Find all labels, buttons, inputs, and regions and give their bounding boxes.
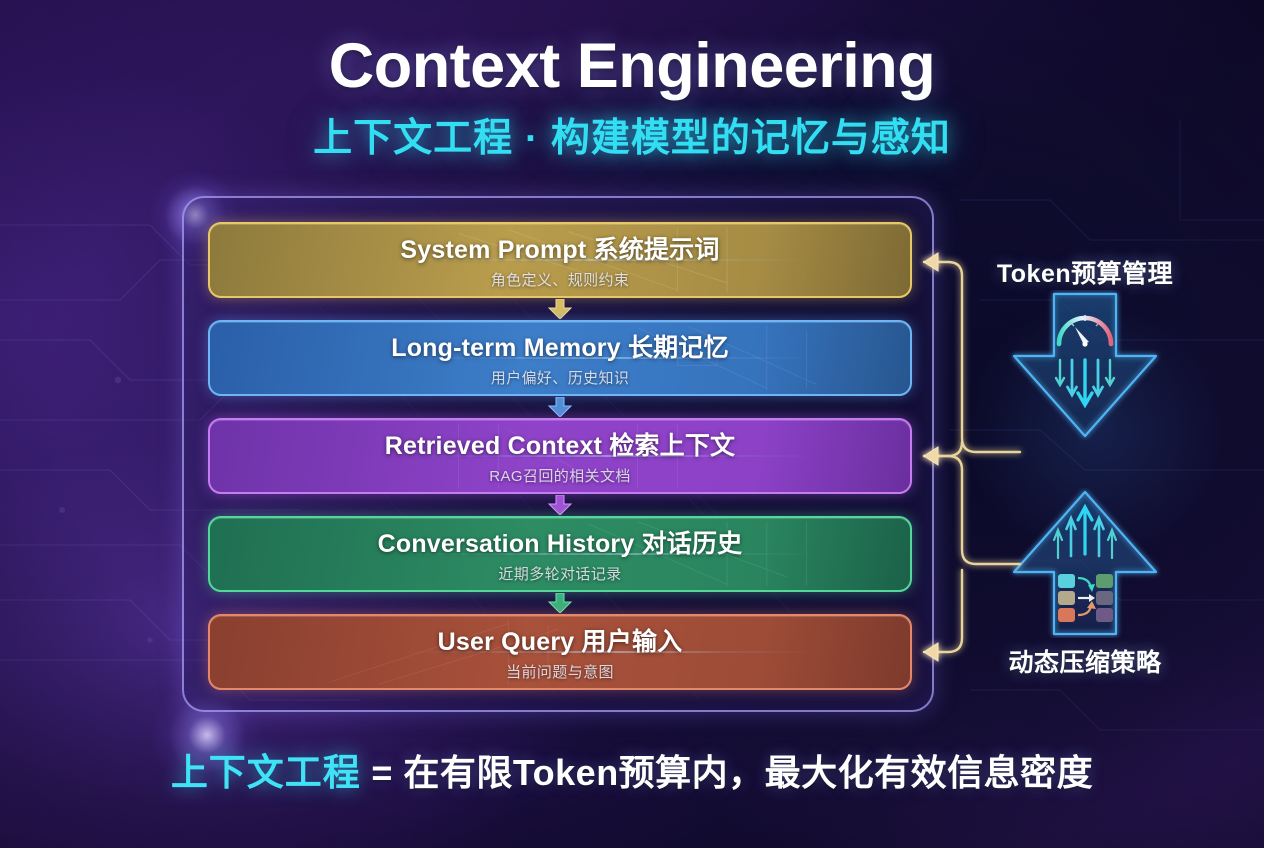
flow-arrow-1	[208, 298, 912, 320]
title-block: Context Engineering 上下文工程 · 构建模型的记忆与感知	[0, 34, 1264, 163]
layer-card-conversation-history[interactable]: Conversation History 对话历史 近期多轮对话记录	[208, 516, 912, 592]
callout-label: 动态压缩策略	[960, 643, 1210, 679]
layer-title: Conversation History 对话历史	[378, 524, 743, 560]
layer-subtitle: 用户偏好、历史知识	[491, 367, 630, 388]
layer-subtitle: 近期多轮对话记录	[498, 563, 621, 584]
layer-card-long-term-memory[interactable]: Long-term Memory 长期记忆 用户偏好、历史知识	[208, 320, 912, 396]
layer-title: Retrieved Context 检索上下文	[385, 426, 736, 462]
layer-title: Long-term Memory 长期记忆	[391, 328, 729, 364]
chevron-down-icon	[547, 397, 573, 417]
down-arrow-gauge-icon	[960, 290, 1210, 445]
summary-caption: 上下文工程 = 在有限Token预算内，最大化有效信息密度	[0, 742, 1264, 796]
page-title-en: Context Engineering	[0, 34, 1264, 98]
caption-main-text: = 在有限Token预算内，最大化有效信息密度	[361, 752, 1093, 793]
layer-title: System Prompt 系统提示词	[400, 230, 719, 266]
layer-subtitle: RAG召回的相关文档	[489, 465, 631, 486]
up-arrow-compression-icon	[960, 488, 1210, 643]
flow-arrow-2	[208, 396, 912, 418]
page-title-cn: 上下文工程 · 构建模型的记忆与感知	[0, 107, 1264, 163]
caption-accent-text: 上下文工程	[171, 752, 361, 793]
flow-arrow-4	[208, 592, 912, 614]
layer-card-retrieved-context[interactable]: Retrieved Context 检索上下文 RAG召回的相关文档	[208, 418, 912, 494]
layer-card-user-query[interactable]: User Query 用户输入 当前问题与意图	[208, 614, 912, 690]
context-stack-panel: System Prompt 系统提示词 角色定义、规则约束	[182, 196, 934, 712]
layer-stack: System Prompt 系统提示词 角色定义、规则约束	[208, 222, 912, 690]
flow-arrow-3	[208, 494, 912, 516]
callout-dynamic-compression[interactable]: 动态压缩策略	[960, 488, 1210, 679]
layer-card-system-prompt[interactable]: System Prompt 系统提示词 角色定义、规则约束	[208, 222, 912, 298]
chevron-down-icon	[547, 593, 573, 613]
layer-subtitle: 角色定义、规则约束	[491, 269, 630, 290]
slide-canvas: Context Engineering 上下文工程 · 构建模型的记忆与感知 S…	[0, 0, 1264, 848]
layer-subtitle: 当前问题与意图	[506, 661, 614, 682]
callout-token-budget[interactable]: Token预算管理	[960, 254, 1210, 445]
chevron-down-icon	[547, 495, 573, 515]
layer-title: User Query 用户输入	[438, 622, 683, 658]
callout-label: Token预算管理	[960, 254, 1210, 290]
chevron-down-icon	[547, 299, 573, 319]
